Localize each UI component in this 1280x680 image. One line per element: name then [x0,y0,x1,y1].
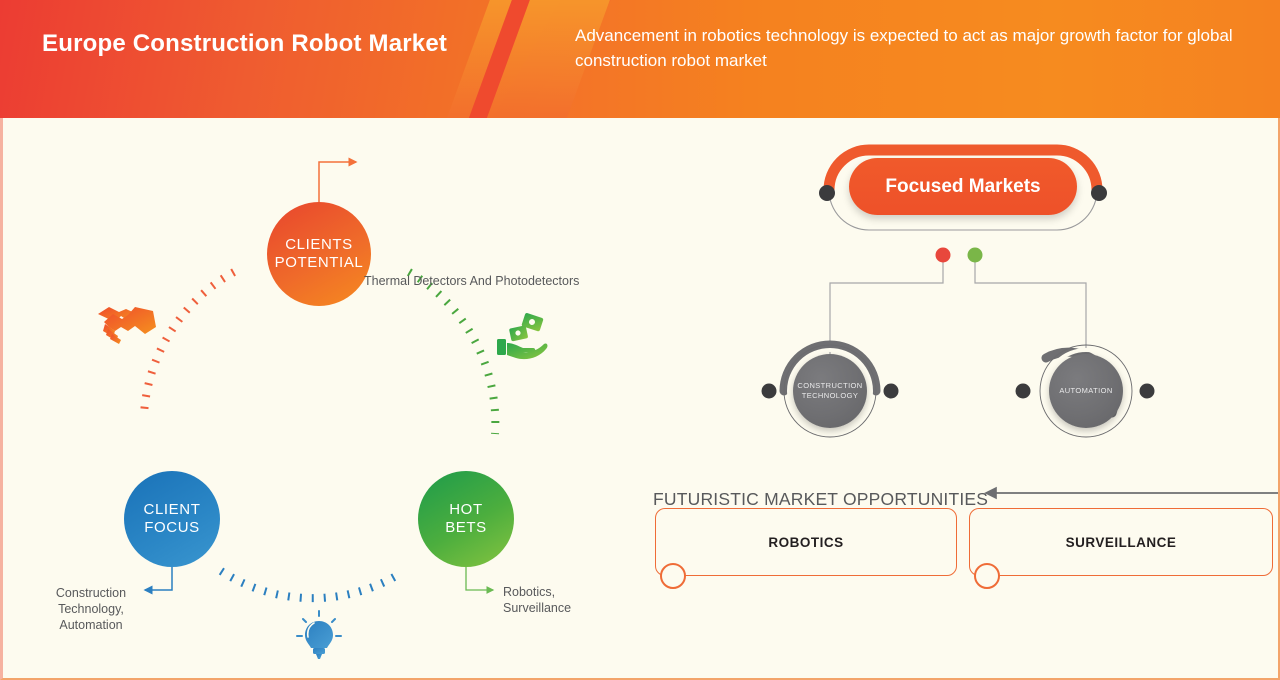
opportunity-knob-surveillance [974,563,1000,589]
callout-thermal-detectors: Thermal Detectors And Photodetectors [364,273,579,289]
node-clients-potential-line2: POTENTIAL [275,254,364,272]
futuristic-market-opportunities-title: FUTURISTIC MARKET OPPORTUNITIES [653,489,988,510]
node-clients-potential-line1: CLIENTS [275,236,364,254]
opportunity-label-robotics: ROBOTICS [768,535,843,550]
opportunity-box-robotics[interactable]: ROBOTICS [655,508,957,576]
node-automation[interactable]: AUTOMATION [1049,354,1123,428]
node-client-focus-line1: CLIENT [144,501,201,519]
opportunity-label-surveillance: SURVEILLANCE [1066,535,1177,550]
callout-construction-technology: Construction Technology, Automation [41,585,141,633]
node-hot-bets[interactable]: HOT BETS [418,471,514,567]
node-clients-potential[interactable]: CLIENTS POTENTIAL [267,202,371,306]
opportunity-box-surveillance[interactable]: SURVEILLANCE [969,508,1273,576]
money-in-hand-icon [496,313,548,368]
handshake-icon [95,298,159,353]
page-title: Europe Construction Robot Market [42,30,447,58]
node-construction-technology-line1: CONSTRUCTION [797,381,862,390]
header-banner: Europe Construction Robot Market Advance… [0,0,1280,118]
focused-markets-label: Focused Markets [885,176,1040,198]
node-client-focus-line2: FOCUS [144,519,201,537]
node-automation-line1: AUTOMATION [1059,386,1112,395]
infographic-page: Europe Construction Robot Market Advance… [0,0,1280,680]
focused-markets-capsule[interactable]: Focused Markets [849,158,1077,215]
node-construction-technology-line2: TECHNOLOGY [802,391,859,400]
node-construction-technology[interactable]: CONSTRUCTION TECHNOLOGY [793,354,867,428]
node-hot-bets-line1: HOT [445,501,487,519]
header-subtitle: Advancement in robotics technology is ex… [575,23,1235,73]
diagram-canvas: CLIENTS POTENTIAL CLIENT FOCUS HOT BETS … [0,118,1280,680]
callout-robotics-surveillance: Robotics, Surveillance [503,584,623,616]
lightbulb-icon [296,610,342,667]
opportunity-knob-robotics [660,563,686,589]
node-client-focus[interactable]: CLIENT FOCUS [124,471,220,567]
node-hot-bets-line2: BETS [445,519,487,537]
